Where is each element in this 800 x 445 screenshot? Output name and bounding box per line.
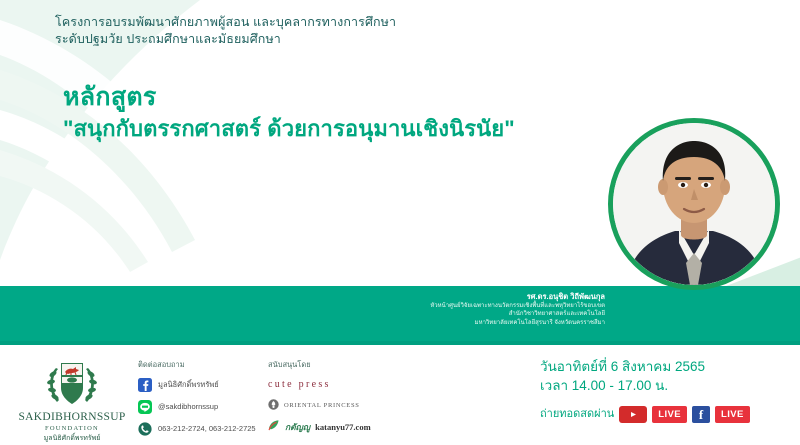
line-icon [138,400,152,414]
contact-phone-text: 063-212-2724, 063-212-2725 [158,423,256,434]
speaker-affiliation-2: สำนักวิชาวิทยาศาสตร์และเทคโนโลยี [330,310,605,318]
sponsor-katanyu-thai: กตัญญู [285,420,310,434]
logo-thai-name: มูลนิธิศักดิ์พรทรัพย์ [16,434,128,444]
sponsor-heading: สนับสนุนโดย [268,359,418,370]
speaker-photo [613,123,775,285]
contact-phone[interactable]: 063-212-2724, 063-212-2725 [138,419,268,438]
broadcast-label: ถ่ายทอดสดผ่าน [540,407,614,422]
poster-canvas: โครงการอบรมพัฒนาศักยภาพผู้สอน และบุคลากร… [0,0,800,445]
header-line-2: ระดับปฐมวัย ประถมศึกษาและมัธยมศึกษา [55,31,575,48]
sponsor-oriental-princess[interactable]: ORIENTAL PRINCESS [268,396,418,415]
green-band-shade [0,341,800,345]
sponsor-katanyu[interactable]: กตัญญู katanyu77.com [268,417,418,436]
poster-footer: SAKDIBHORNSSUP FOUNDATION มูลนิธิศักดิ์พ… [0,349,800,445]
logo-subtitle: FOUNDATION [16,424,128,433]
shield-crest-icon [43,358,101,410]
phone-icon [138,422,152,436]
title-main: "สนุกกับตรรกศาสตร์ ด้วยการอนุมานเชิงนิรน… [63,114,563,144]
speaker-affiliation-1: หัวหน้าศูนย์วิจัยเฉพาะทางนวัตกรรมเชิงพื้… [330,302,605,310]
sponsor-cute-press-label: cute press [268,379,331,390]
speaker-portrait [608,118,780,290]
sponsor-section: สนับสนุนโดย cute press ORIENTAL PRINCESS [268,359,418,438]
contact-line[interactable]: @sakdibhornssup [138,397,268,416]
course-title: หลักสูตร "สนุกกับตรรกศาสตร์ ด้วยการอนุมา… [63,82,563,144]
logo-name: SAKDIBHORNSSUP [16,411,128,424]
foundation-logo: SAKDIBHORNSSUP FOUNDATION มูลนิธิศักดิ์พ… [16,358,128,444]
contact-facebook-text: มูลนิธิศักดิ์พรทรัพย์ [158,379,219,390]
facebook-icon [138,378,152,392]
speaker-name: รศ.ดร.อนุชิต วิถีพัฒนกุล [330,292,605,302]
speaker-affiliation-3: มหาวิทยาลัยเทคโนโลยีสุรนารี จังหวัดนครรา… [330,319,605,327]
title-kicker: หลักสูตร [63,82,563,112]
program-header: โครงการอบรมพัฒนาศักยภาพผู้สอน และบุคลากร… [55,14,575,48]
speaker-credentials: รศ.ดร.อนุชิต วิถีพัฒนกุล หัวหน้าศูนย์วิจ… [330,292,605,327]
sponsor-katanyu-url: katanyu77.com [315,422,371,432]
contact-section: ติดต่อสอบถาม มูลนิธิศักดิ์พรทรัพย์ [138,359,268,441]
facebook-square-icon[interactable]: f [692,406,710,423]
katanyu-leaf-icon [268,418,280,436]
youtube-icon[interactable] [619,406,647,423]
schedule-section: วันอาทิตย์ที่ 6 สิงหาคม 2565 เวลา 14.00 … [540,357,790,423]
event-date: วันอาทิตย์ที่ 6 สิงหาคม 2565 [540,357,790,376]
contact-line-text: @sakdibhornssup [158,401,218,412]
contact-heading: ติดต่อสอบถาม [138,359,268,370]
header-line-1: โครงการอบรมพัฒนาศักยภาพผู้สอน และบุคลากร… [55,14,575,31]
youtube-live-badge[interactable]: LIVE [652,406,687,423]
sponsor-oriental-princess-label: ORIENTAL PRINCESS [284,402,360,409]
facebook-live-badge[interactable]: LIVE [715,406,750,423]
sponsor-cute-press[interactable]: cute press [268,375,418,394]
event-time: เวลา 14.00 - 17.00 น. [540,376,790,395]
oriental-princess-icon [268,397,279,415]
broadcast-row: ถ่ายทอดสดผ่าน LIVE f LIVE [540,406,790,423]
contact-facebook[interactable]: มูลนิธิศักดิ์พรทรัพย์ [138,375,268,394]
